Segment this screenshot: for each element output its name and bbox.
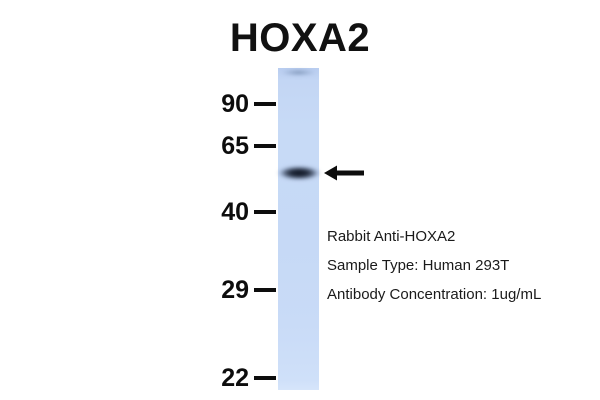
mw-marker-label: 90 [221,91,249,117]
mw-marker-90: 90 [196,91,276,117]
sample-lane [278,68,319,390]
western-blot-figure: HOXA2 90 65 40 29 22 Rabbit Anti-HOXA2 S… [0,0,600,400]
mw-marker-label: 65 [221,133,249,159]
annotation-line-antibody: Rabbit Anti-HOXA2 [327,222,541,251]
mw-marker-40: 40 [196,199,276,225]
mw-tick-icon [254,210,276,214]
band-pointer-arrow-icon [324,163,364,183]
mw-marker-label: 22 [221,365,249,391]
mw-marker-65: 65 [196,133,276,159]
mw-marker-22: 22 [196,365,276,391]
annotation-block: Rabbit Anti-HOXA2 Sample Type: Human 293… [327,222,541,309]
mw-marker-29: 29 [196,277,276,303]
mw-tick-icon [254,288,276,292]
mw-marker-label: 40 [221,199,249,225]
lane-well-smudge [282,69,315,76]
page-title: HOXA2 [0,16,600,60]
left-arrow-icon [324,163,364,183]
annotation-line-concentration: Antibody Concentration: 1ug/mL [327,280,541,309]
hoxa2-band [277,164,321,182]
mw-tick-icon [254,144,276,148]
annotation-line-sample-type: Sample Type: Human 293T [327,251,541,280]
mw-tick-icon [254,376,276,380]
mw-tick-icon [254,102,276,106]
mw-marker-label: 29 [221,277,249,303]
